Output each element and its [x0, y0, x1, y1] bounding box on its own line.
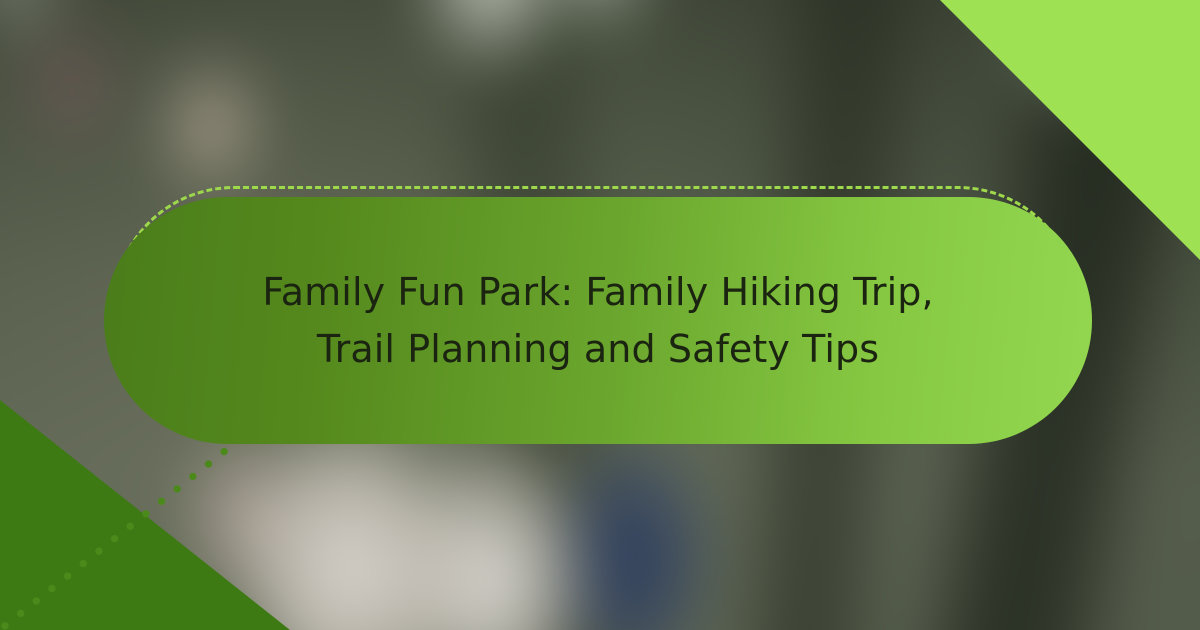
page-title: Family Fun Park: Family Hiking Trip, Tra… — [248, 264, 948, 376]
share-card-canvas: Family Fun Park: Family Hiking Trip, Tra… — [0, 0, 1200, 630]
title-card: Family Fun Park: Family Hiking Trip, Tra… — [104, 197, 1092, 444]
title-card-group: Family Fun Park: Family Hiking Trip, Tra… — [104, 186, 1092, 444]
